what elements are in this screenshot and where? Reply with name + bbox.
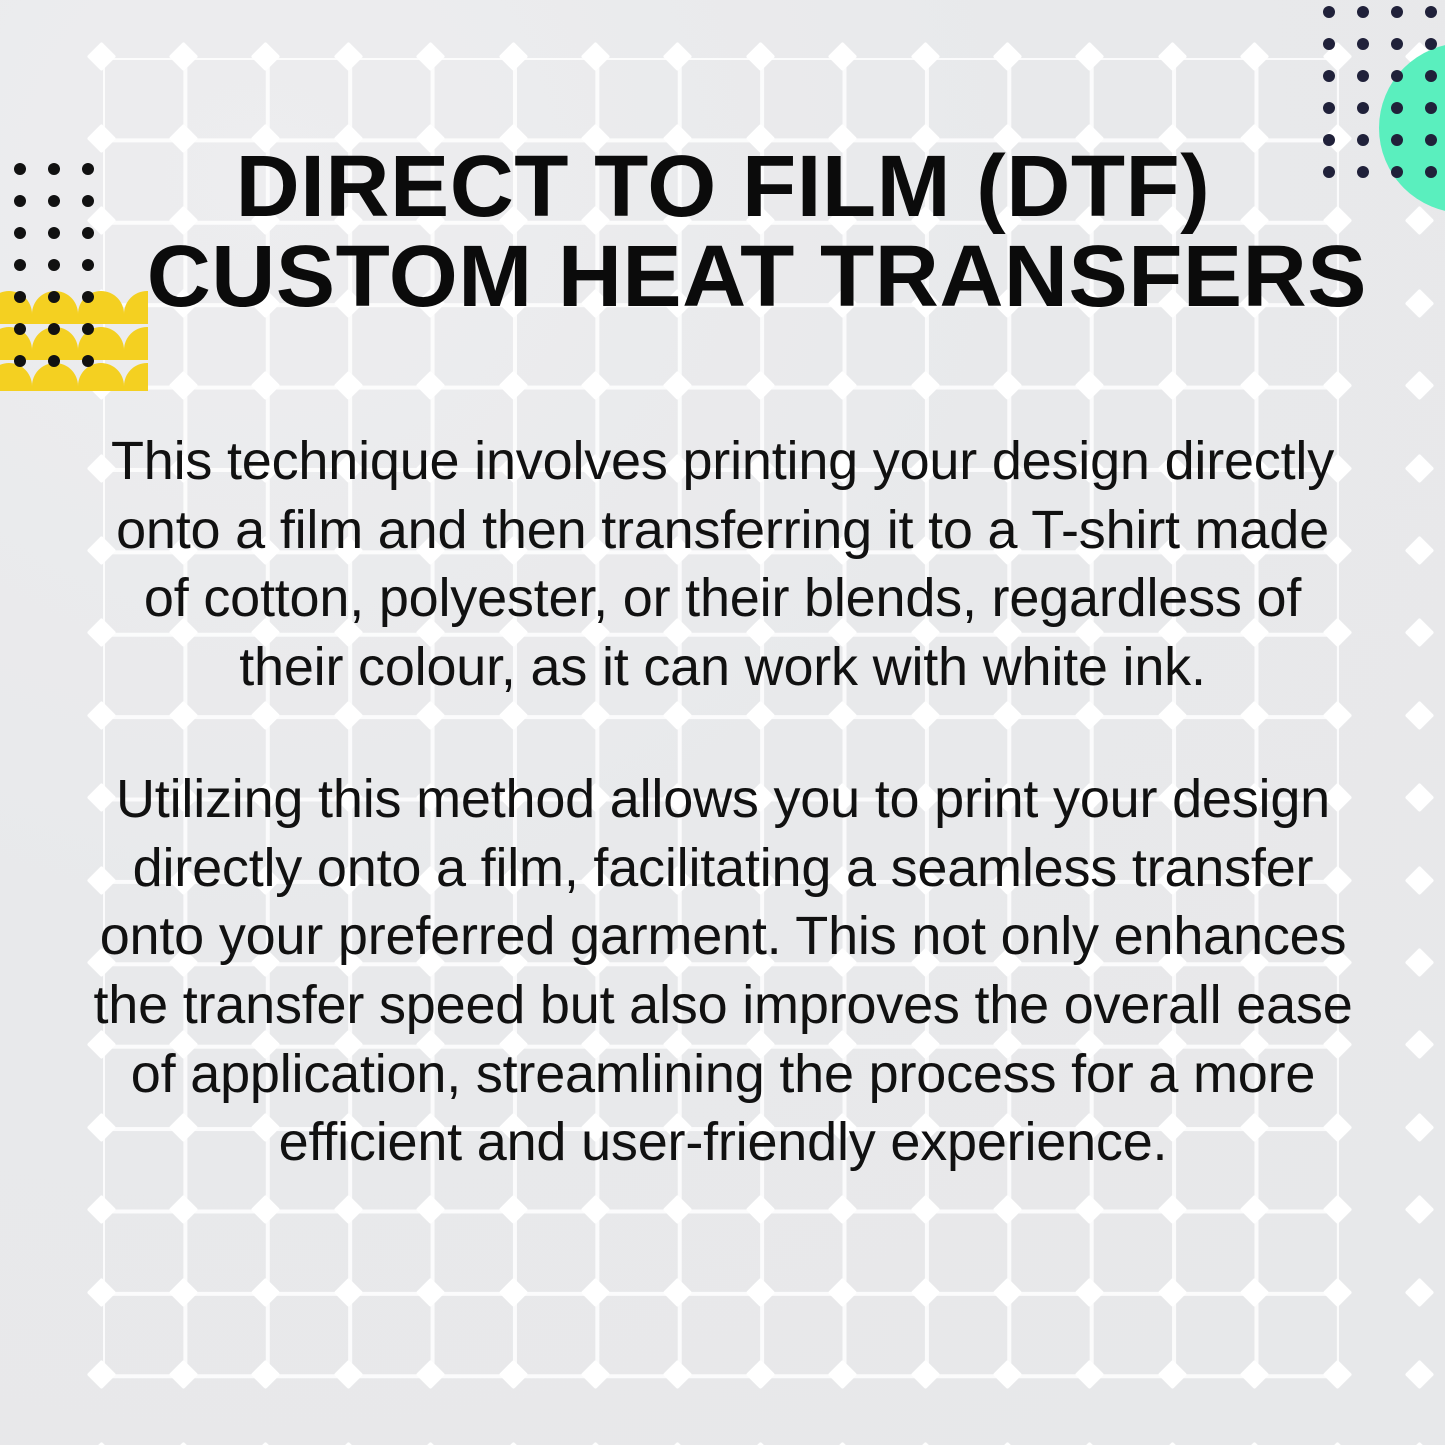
poster-content: DIRECT TO FILM (DTF) CUSTOM HEAT TRANSFE… <box>0 0 1445 1445</box>
title-line-1: DIRECT TO FILM (DTF) <box>146 142 1299 232</box>
paragraph-1: This technique involves printing your de… <box>94 427 1352 701</box>
body-text-block: This technique involves printing your de… <box>94 427 1352 1177</box>
paragraph-2: Utilizing this method allows you to prin… <box>91 765 1356 1176</box>
title-line-2: CUSTOM HEAT TRANSFERS <box>146 232 1299 322</box>
poster-canvas: DIRECT TO FILM (DTF) CUSTOM HEAT TRANSFE… <box>0 0 1445 1445</box>
page-title: DIRECT TO FILM (DTF) CUSTOM HEAT TRANSFE… <box>146 142 1299 323</box>
